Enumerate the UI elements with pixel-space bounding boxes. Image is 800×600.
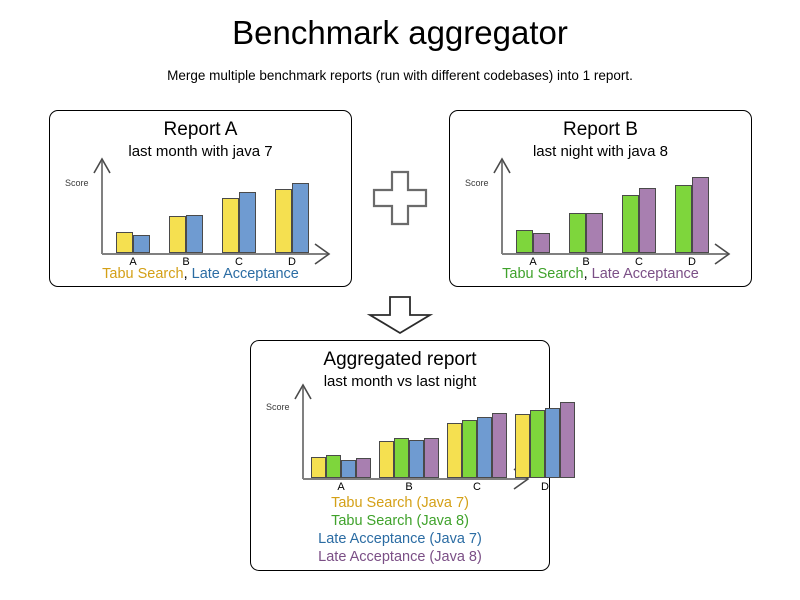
bar-A-1 — [516, 230, 533, 253]
legend-part-1: Tabu Search — [502, 266, 583, 282]
report-a-legend: Tabu Search, Late Acceptance — [50, 266, 351, 282]
bar-D-2 — [292, 183, 309, 253]
legend-part-1: Tabu Search — [102, 266, 183, 282]
category-label-D: D — [505, 481, 585, 493]
legend-line-1: Tabu Search (Java 7) — [251, 494, 549, 512]
bar-B-2 — [394, 438, 409, 478]
plus-icon — [372, 170, 428, 226]
bar-D-3 — [545, 408, 560, 478]
bar-B-2 — [586, 213, 603, 253]
bar-D-1 — [275, 189, 292, 253]
report-b-chart: ABCD — [450, 111, 753, 288]
bar-C-2 — [639, 188, 656, 253]
bar-A-4 — [356, 458, 371, 478]
legend-part-2: , — [584, 266, 592, 282]
legend-part-2: , — [184, 266, 192, 282]
bar-B-2 — [186, 215, 203, 253]
bar-B-1 — [569, 213, 586, 253]
bar-B-4 — [424, 438, 439, 478]
bar-C-3 — [477, 417, 492, 478]
aggregated-panel: Aggregated report last month vs last nig… — [250, 340, 550, 571]
report-a-bars: ABCD — [50, 111, 353, 288]
bar-B-1 — [169, 216, 186, 253]
report-a-chart: ABCD — [50, 111, 353, 288]
bar-C-1 — [222, 198, 239, 253]
bar-C-1 — [447, 423, 462, 478]
down-arrow-icon — [368, 296, 432, 334]
bar-B-3 — [409, 440, 424, 478]
bar-D-2 — [692, 177, 709, 253]
bar-D-1 — [515, 414, 530, 478]
page-title: Benchmark aggregator — [0, 14, 800, 52]
bar-C-2 — [462, 420, 477, 478]
report-b-bars: ABCD — [450, 111, 753, 288]
legend-line-4: Late Acceptance (Java 8) — [251, 548, 549, 566]
bar-A-2 — [326, 455, 341, 478]
bar-C-4 — [492, 413, 507, 478]
bar-A-3 — [341, 460, 356, 478]
report-b-legend: Tabu Search, Late Acceptance — [450, 266, 751, 282]
report-a-panel: Report A last month with java 7 Score AB… — [49, 110, 352, 287]
bar-D-1 — [675, 185, 692, 253]
aggregated-legend: Tabu Search (Java 7)Tabu Search (Java 8)… — [251, 494, 549, 566]
bar-A-2 — [533, 233, 550, 253]
legend-line-2: Tabu Search (Java 8) — [251, 512, 549, 530]
bar-B-1 — [379, 441, 394, 478]
legend-line-3: Late Acceptance (Java 7) — [251, 530, 549, 548]
bar-A-1 — [116, 232, 133, 253]
legend-part-3: Late Acceptance — [592, 266, 699, 282]
bar-A-1 — [311, 457, 326, 478]
bar-C-1 — [622, 195, 639, 253]
bar-D-4 — [560, 402, 575, 478]
bar-A-2 — [133, 235, 150, 253]
report-b-panel: Report B last night with java 8 Score AB… — [449, 110, 752, 287]
bar-D-2 — [530, 410, 545, 478]
legend-part-3: Late Acceptance — [192, 266, 299, 282]
bar-C-2 — [239, 192, 256, 253]
page-subtitle: Merge multiple benchmark reports (run wi… — [0, 68, 800, 83]
